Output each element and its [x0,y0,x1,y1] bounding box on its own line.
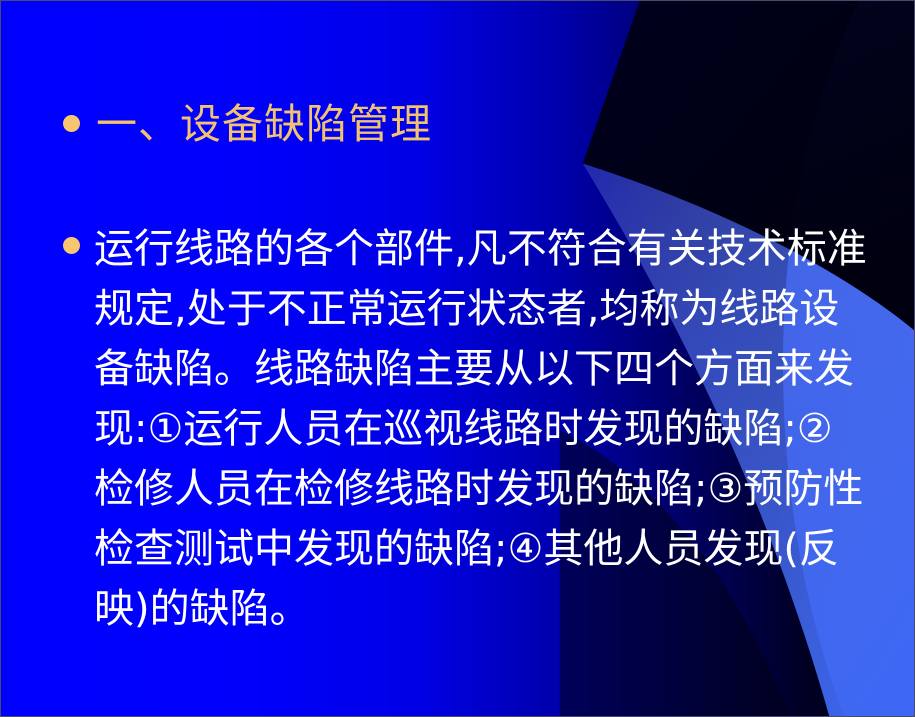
body-line: 映)的缺陷。 [94,579,864,639]
body-paragraph: 运行线路的各个部件,凡不符合有关技术标准 规定,处于不正常运行状态者,均称为线路… [94,219,864,639]
body-line: 现:①运行人员在巡视线路时发现的缺陷;② [94,399,864,459]
body-line: 检修人员在检修线路时发现的缺陷;③预防性 [94,459,864,519]
presentation-slide: 一、设备缺陷管理 运行线路的各个部件,凡不符合有关技术标准 规定,处于不正常运行… [0,0,915,717]
slide-content: 一、设备缺陷管理 运行线路的各个部件,凡不符合有关技术标准 规定,处于不正常运行… [1,1,914,716]
body-bullet-icon [63,237,80,254]
title-bullet-icon [63,115,80,132]
title-bullet-row: 一、设备缺陷管理 [63,98,432,150]
body-line: 规定,处于不正常运行状态者,均称为线路设 [94,279,864,339]
body-line: 运行线路的各个部件,凡不符合有关技术标准 [94,219,864,279]
page-title: 一、设备缺陷管理 [96,98,432,150]
body-line: 备缺陷。线路缺陷主要从以下四个方面来发 [94,339,864,399]
body-bullet-row: 运行线路的各个部件,凡不符合有关技术标准 规定,处于不正常运行状态者,均称为线路… [63,219,883,639]
body-line: 检查测试中发现的缺陷;④其他人员发现(反 [94,519,864,579]
